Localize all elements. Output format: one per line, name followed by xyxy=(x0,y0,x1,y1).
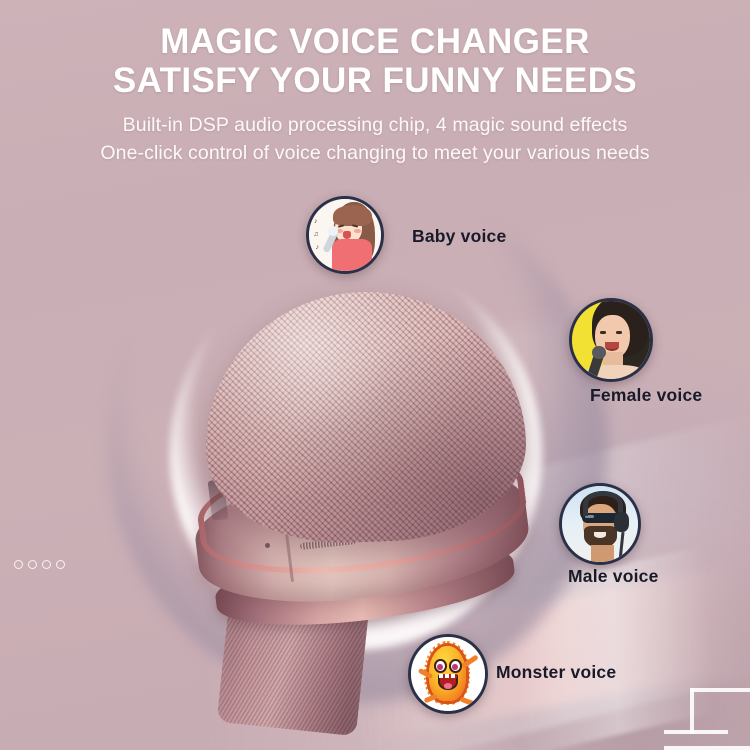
dot-icon xyxy=(56,560,65,569)
mesh-shading xyxy=(201,286,530,547)
decorative-dots xyxy=(14,560,65,569)
headline-line-1: MAGIC VOICE CHANGER xyxy=(0,22,750,61)
cartoon-monster-icon xyxy=(411,637,485,711)
headline-line-2: SATISFY YOUR FUNNY NEEDS xyxy=(0,61,750,100)
woman-singer-photo-icon xyxy=(572,301,650,379)
headline-block: MAGIC VOICE CHANGER SATISFY YOUR FUNNY N… xyxy=(0,22,750,168)
cartoon-girl-singing-icon: ♪ ♫ ♪ xyxy=(309,199,381,271)
dot-icon xyxy=(28,560,37,569)
feature-badge-female[interactable] xyxy=(569,298,653,382)
feature-badge-monster[interactable] xyxy=(408,634,488,714)
subheadline-line-2: One-click control of voice changing to m… xyxy=(0,140,750,168)
feature-label-baby: Baby voice xyxy=(412,226,506,247)
man-with-headphones-photo-icon xyxy=(562,486,638,562)
feature-badge-baby[interactable]: ♪ ♫ ♪ xyxy=(306,196,384,274)
feature-label-female: Female voice xyxy=(590,385,702,406)
microphone-mesh-head xyxy=(201,286,530,547)
dot-icon xyxy=(14,560,23,569)
feature-badge-male[interactable] xyxy=(559,483,641,565)
subheadline-line-1: Built-in DSP audio processing chip, 4 ma… xyxy=(0,112,750,140)
dot-icon xyxy=(42,560,51,569)
music-note-icon: ♫ xyxy=(313,231,318,238)
corner-logo-mark xyxy=(632,688,750,750)
music-note-icon: ♪ xyxy=(315,244,319,251)
feature-label-monster: Monster voice xyxy=(496,662,616,683)
product-poster: MAGIC VOICE CHANGER SATISFY YOUR FUNNY N… xyxy=(0,0,750,750)
music-note-icon: ♪ xyxy=(314,218,318,225)
feature-label-male: Male voice xyxy=(568,566,659,587)
